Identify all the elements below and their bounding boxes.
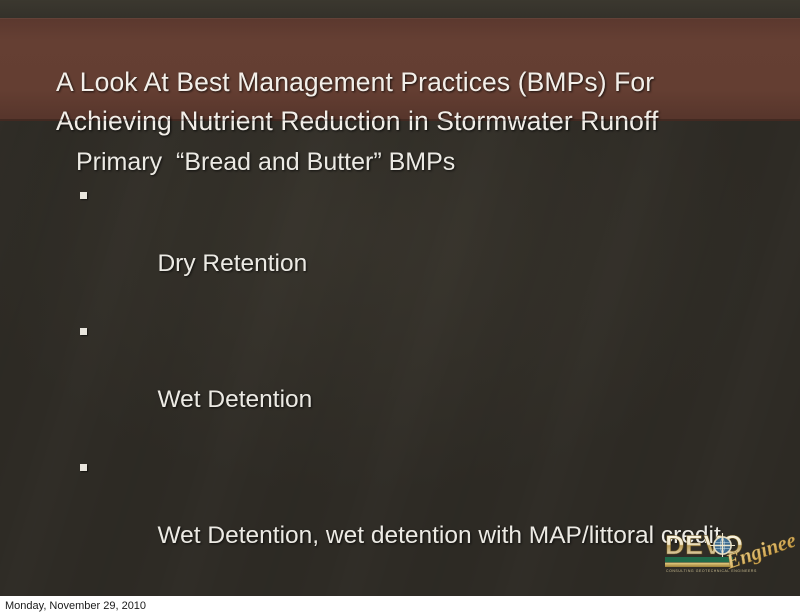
slide-top-strip — [0, 0, 800, 18]
logo-gold-bar — [665, 563, 733, 567]
slide-title: A Look At Best Management Practices (BMP… — [56, 63, 772, 141]
logo-tagline: CONSULTING GEOTECHNICAL ENGINEERS — [666, 569, 757, 573]
list-item-label: Wet Detention — [157, 386, 312, 413]
devo-engineering-logo: DEVO CONSULTING GEOTECHNICAL ENGINEERS E… — [663, 527, 795, 583]
footer-date: Monday, November 29, 2010 — [5, 599, 146, 613]
square-bullet-icon — [80, 464, 87, 471]
logo-green-bar — [665, 557, 733, 562]
square-bullet-icon — [80, 328, 87, 335]
list-item: Dry Retention — [0, 179, 800, 315]
square-bullet-icon — [80, 192, 87, 199]
presentation-slide: A Look At Best Management Practices (BMP… — [0, 0, 800, 596]
list-item-label: Dry Retention — [157, 250, 307, 277]
list-item: Underdrains (provisional, pending furthe… — [0, 587, 800, 596]
slide-title-band: A Look At Best Management Practices (BMP… — [0, 18, 800, 121]
list-item-label: Wet Detention, wet detention with MAP/li… — [157, 522, 720, 549]
list-item: Wet Detention — [0, 315, 800, 451]
lead-line: Primary “Bread and Butter” BMPs — [0, 145, 800, 179]
slide-footer: Monday, November 29, 2010 — [0, 596, 800, 616]
